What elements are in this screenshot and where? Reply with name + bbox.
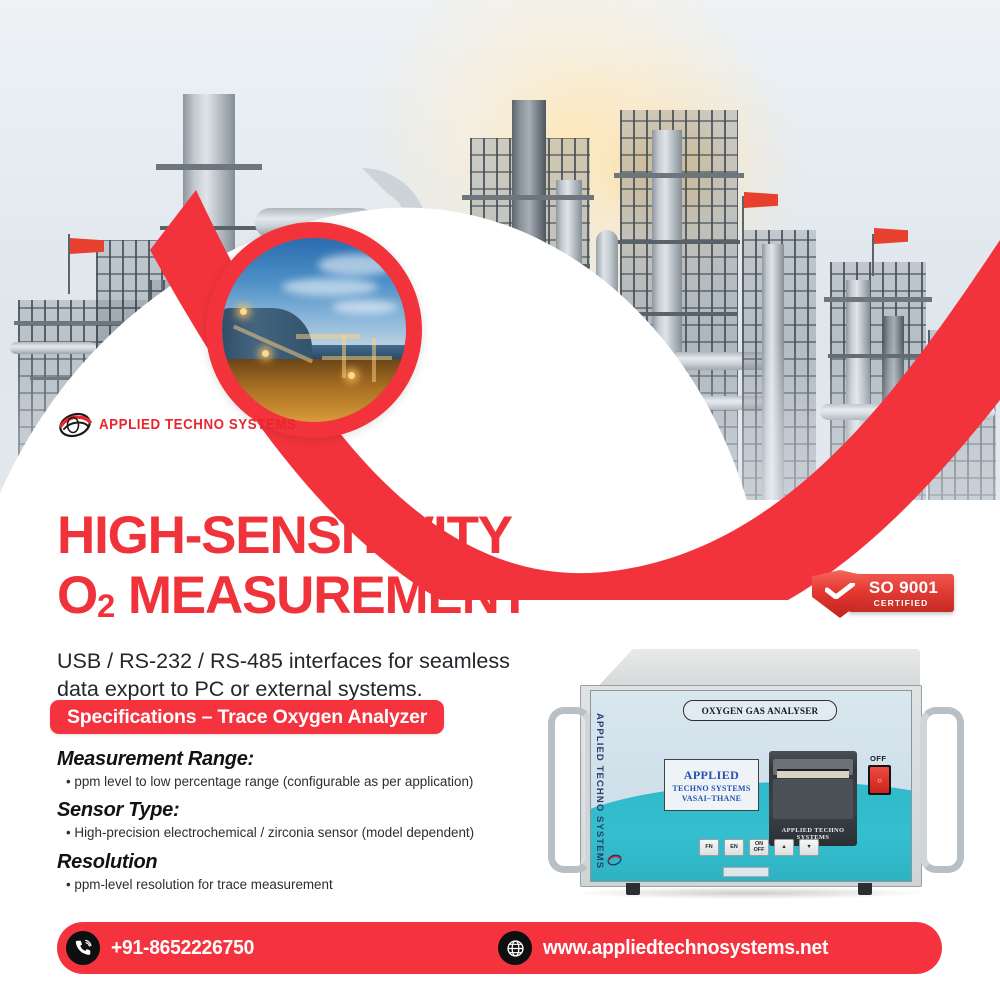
device-logo-icon bbox=[607, 853, 622, 865]
swirl-globe-logo-icon bbox=[58, 412, 92, 438]
device-serial-plate bbox=[723, 867, 769, 877]
spec-heading: Measurement Range: bbox=[57, 748, 567, 771]
specifications-list: Measurement Range: • ppm level to low pe… bbox=[57, 748, 567, 902]
plate-line-2: TECHNO SYSTEMS bbox=[672, 784, 750, 793]
printer-paper-slot bbox=[777, 769, 849, 778]
device-printer-module[interactable]: APPLIED TECHNO SYSTEMS bbox=[769, 751, 857, 846]
device-front-panel: OXYGEN GAS ANALYSER APPLIED TECHNO SYSTE… bbox=[590, 690, 912, 882]
storage-tank-photo bbox=[222, 238, 406, 422]
iso-subtitle: CERTIFIED bbox=[874, 599, 929, 608]
device-handle-right bbox=[920, 707, 964, 873]
device-button-fn[interactable]: FN bbox=[699, 839, 719, 856]
headline-line-1: HIGH-SENSITIVITY bbox=[57, 506, 512, 565]
phone-number: +91-8652226750 bbox=[111, 937, 254, 960]
contact-footer-bar: +91-8652226750 www.appliedtechnosystems.… bbox=[57, 922, 942, 974]
printer-front bbox=[773, 779, 853, 819]
spec-item: Measurement Range: • ppm level to low pe… bbox=[57, 748, 567, 790]
device-button-up[interactable]: ▲ bbox=[774, 839, 794, 856]
page-title: HIGH-SENSITIVITY O2 MEASUREMENT bbox=[57, 508, 617, 624]
company-name: APPLIED TECHNO SYSTEMS bbox=[99, 417, 296, 433]
plate-line-3: VASAI–THANE bbox=[682, 794, 742, 803]
globe-icon bbox=[498, 931, 532, 965]
specifications-badge: Specifications – Trace Oxygen Analyzer bbox=[50, 700, 444, 734]
check-mark-icon bbox=[825, 583, 855, 599]
phone-contact[interactable]: +91-8652226750 bbox=[66, 931, 260, 965]
headline-line-2: O2 MEASUREMENT bbox=[57, 568, 617, 624]
headline-o: O bbox=[57, 566, 97, 625]
circle-inset-frame bbox=[206, 222, 422, 438]
device-button-down[interactable]: ▼ bbox=[799, 839, 819, 856]
iso-title: ISO 9001 bbox=[864, 579, 938, 596]
spec-item: Sensor Type: • High-precision electroche… bbox=[57, 799, 567, 841]
device-foot-left bbox=[626, 883, 640, 895]
poster-canvas: APPLIED TECHNO SYSTEMS HIGH-SENSITIVITY … bbox=[0, 0, 1000, 1000]
spec-item: Resolution • ppm-level resolution for tr… bbox=[57, 851, 567, 893]
company-logo: APPLIED TECHNO SYSTEMS bbox=[58, 412, 314, 438]
website-url: www.appliedtechnosystems.net bbox=[543, 937, 828, 960]
iso-certification-badge: ISO 9001 CERTIFIED bbox=[812, 570, 954, 618]
phone-call-icon bbox=[66, 931, 100, 965]
power-switch-label: OFF bbox=[870, 754, 886, 763]
device-name-plate: APPLIED TECHNO SYSTEMS VASAI–THANE bbox=[664, 759, 759, 811]
hero-banner bbox=[0, 0, 1000, 530]
product-photo-oxygen-analyser: OXYGEN GAS ANALYSER APPLIED TECHNO SYSTE… bbox=[528, 645, 968, 915]
headline-measurement: MEASUREMENT bbox=[114, 566, 530, 625]
website-contact[interactable]: www.appliedtechnosystems.net bbox=[498, 931, 840, 965]
spec-heading: Sensor Type: bbox=[57, 799, 567, 822]
spec-heading: Resolution bbox=[57, 851, 567, 874]
spec-bullet: • ppm-level resolution for trace measure… bbox=[66, 876, 567, 893]
spec-bullet: • High-precision electrochemical / zirco… bbox=[66, 824, 567, 841]
device-side-label: APPLIED TECHNO SYSTEMS bbox=[590, 713, 605, 863]
spec-bullet: • ppm level to low percentage range (con… bbox=[66, 773, 567, 790]
device-keypad[interactable]: FN EN ON OFF ▲ ▼ bbox=[699, 839, 819, 856]
device-foot-right bbox=[858, 883, 872, 895]
plate-line-1: APPLIED bbox=[684, 768, 739, 783]
device-button-onoff[interactable]: ON OFF bbox=[749, 839, 769, 856]
subheadline-text: USB / RS-232 / RS-485 interfaces for sea… bbox=[57, 647, 557, 704]
power-switch[interactable]: ○ bbox=[868, 765, 891, 795]
device-button-en[interactable]: EN bbox=[724, 839, 744, 856]
device-handle-left bbox=[548, 707, 592, 873]
device-title-label: OXYGEN GAS ANALYSER bbox=[683, 700, 837, 721]
power-switch-rocker[interactable]: ○ bbox=[870, 767, 889, 793]
headline-subscript: 2 bbox=[97, 587, 114, 624]
